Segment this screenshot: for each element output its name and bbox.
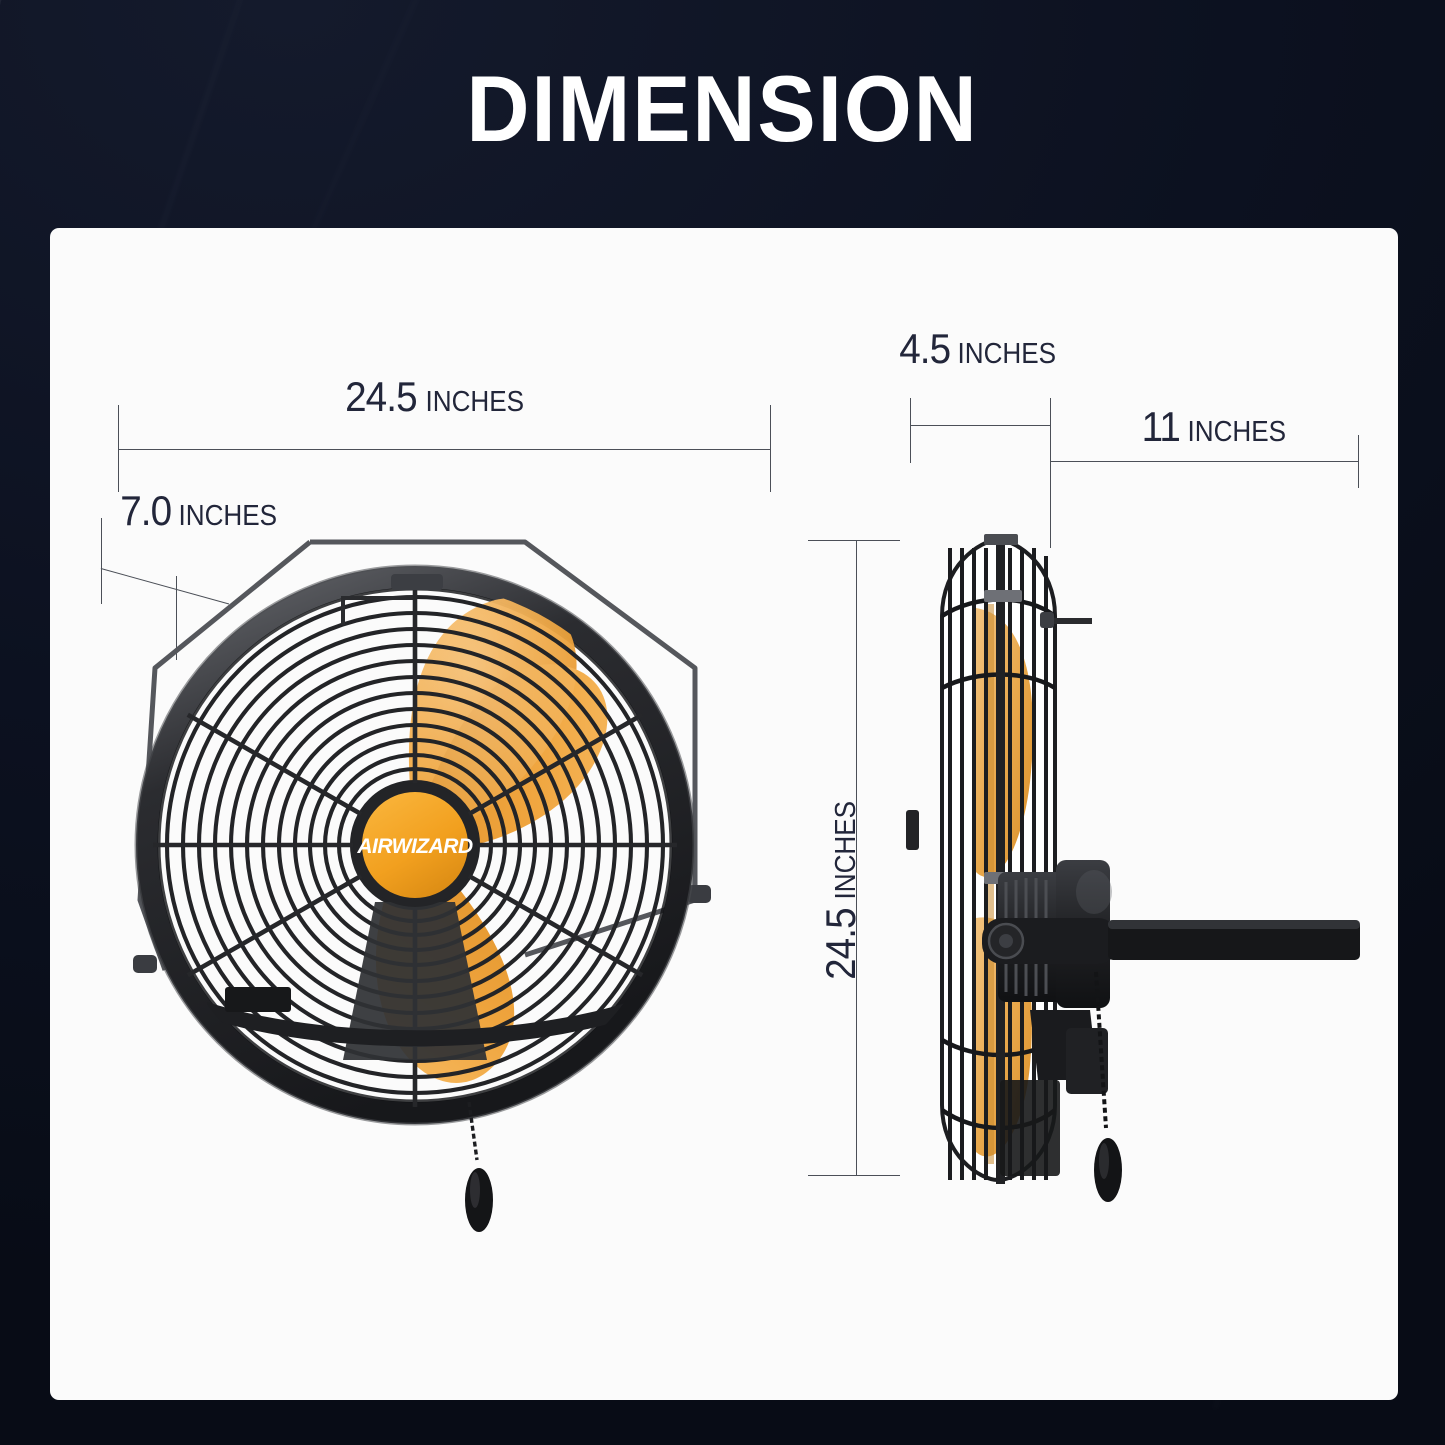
pull-chain-icon bbox=[465, 1102, 493, 1232]
bracket-dim-label: 11INCHES bbox=[1140, 406, 1291, 448]
brand-logo-text: AIRWIZARD bbox=[356, 835, 473, 858]
cage-depth-value: 4.5 bbox=[899, 328, 950, 370]
bracket-dim-line bbox=[1050, 461, 1358, 462]
hub-assembly: AIRWIZARD bbox=[353, 783, 477, 907]
side-hinge-left bbox=[906, 810, 919, 850]
width-dim-unit: INCHES bbox=[425, 388, 524, 417]
cage-depth-line bbox=[910, 425, 1051, 426]
bracket-dim-value: 11 bbox=[1142, 406, 1180, 448]
bracket-dim-unit: INCHES bbox=[1187, 418, 1286, 447]
width-dim-value: 24.5 bbox=[345, 376, 417, 418]
dimension-infographic: DIMENSION 24.5INCHES 7.0INCHES bbox=[0, 0, 1445, 1445]
page-title: DIMENSION bbox=[51, 62, 1395, 156]
width-dim-line bbox=[118, 449, 771, 450]
height-dim-value: 24.5 bbox=[820, 908, 862, 980]
cage-depth-label: 4.5INCHES bbox=[897, 328, 1062, 370]
height-dim-unit: INCHES bbox=[832, 801, 861, 900]
guard-top-latch bbox=[391, 574, 443, 590]
fan-side-view bbox=[880, 520, 1380, 1220]
wall-bracket-arm bbox=[982, 918, 1360, 964]
height-dim-label: 24.5INCHES bbox=[820, 796, 862, 983]
cage-depth-tick-left bbox=[910, 398, 911, 463]
diagram-panel: 24.5INCHES 7.0INCHES bbox=[50, 228, 1398, 1400]
bracket-dim-tick-right bbox=[1358, 435, 1359, 488]
cage-depth-unit: INCHES bbox=[958, 340, 1057, 369]
fan-front-view: AIRWIZARD bbox=[95, 500, 795, 1240]
bracket-clamp bbox=[225, 987, 291, 1012]
width-dim-label: 24.5INCHES bbox=[342, 376, 529, 418]
